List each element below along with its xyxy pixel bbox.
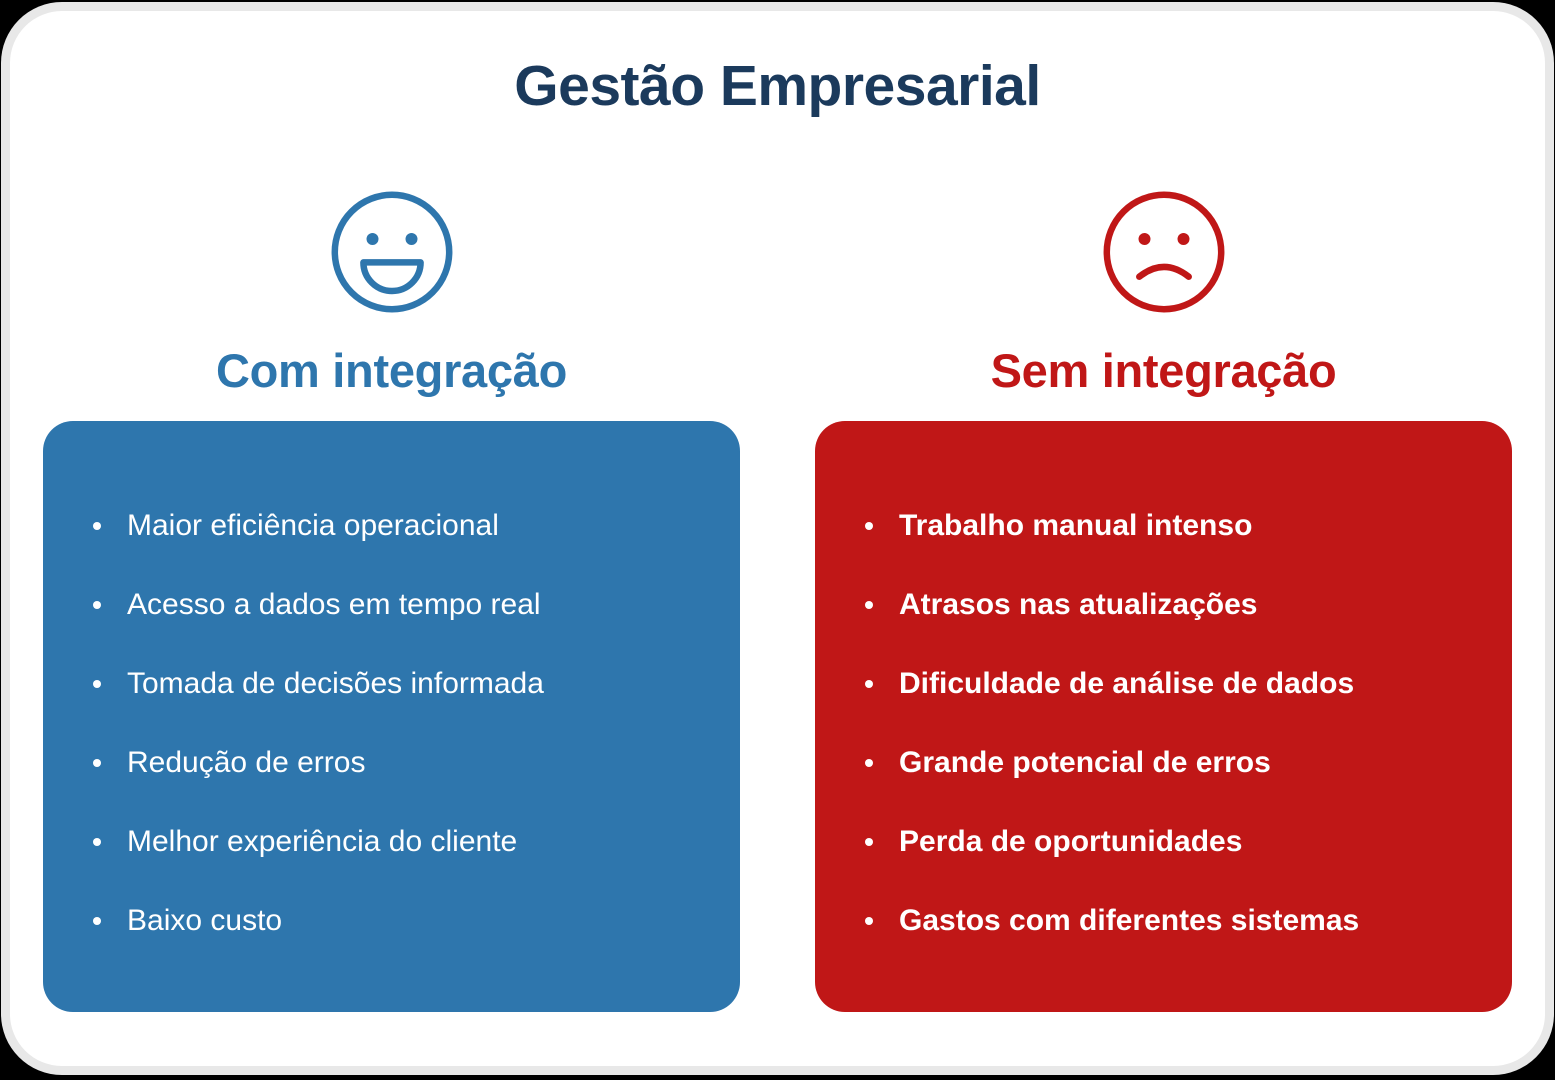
list-item: Perda de oportunidades xyxy=(855,825,1472,858)
comparison-columns: Com integração Maior eficiência operacio… xyxy=(43,187,1512,1045)
column-sem-integracao: Sem integração Trabalho manual intenso A… xyxy=(815,187,1512,1045)
list-item: Trabalho manual intenso xyxy=(855,509,1472,542)
page-title: Gestão Empresarial xyxy=(10,55,1545,118)
list-item: Maior eficiência operacional xyxy=(83,509,700,542)
benefits-list: Maior eficiência operacional Acesso a da… xyxy=(83,509,700,937)
column-com-integracao: Com integração Maior eficiência operacio… xyxy=(43,187,740,1045)
column-heading-sem-integracao: Sem integração xyxy=(991,344,1337,398)
screenshot-root: Gestão Empresarial Com integração Maior … xyxy=(0,0,1555,1080)
happy-face-icon xyxy=(327,187,457,317)
list-item: Grande potencial de erros xyxy=(855,746,1472,779)
list-item: Dificuldade de análise de dados xyxy=(855,667,1472,700)
list-item: Acesso a dados em tempo real xyxy=(83,588,700,621)
list-item: Redução de erros xyxy=(83,746,700,779)
list-item: Melhor experiência do cliente xyxy=(83,825,700,858)
list-item: Tomada de decisões informada xyxy=(83,667,700,700)
drawbacks-list: Trabalho manual intenso Atrasos nas atua… xyxy=(855,509,1472,937)
list-item: Gastos com diferentes sistemas xyxy=(855,904,1472,937)
sad-face-icon xyxy=(1099,187,1229,317)
infographic-card: Gestão Empresarial Com integração Maior … xyxy=(10,11,1545,1066)
column-heading-com-integracao: Com integração xyxy=(216,344,567,398)
panel-com-integracao: Maior eficiência operacional Acesso a da… xyxy=(43,421,740,1012)
panel-sem-integracao: Trabalho manual intenso Atrasos nas atua… xyxy=(815,421,1512,1012)
list-item: Atrasos nas atualizações xyxy=(855,588,1472,621)
list-item: Baixo custo xyxy=(83,904,700,937)
